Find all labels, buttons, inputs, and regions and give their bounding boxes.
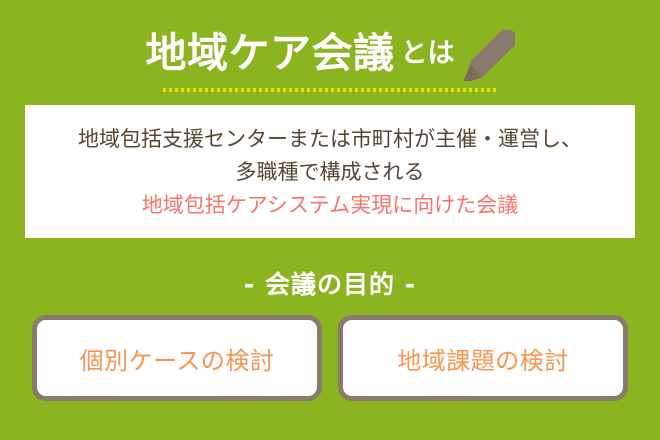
description-panel: 地域包括支援センターまたは市町村が主催・運営し、 多職種で構成される 地域包括ケ… [25,105,635,238]
purpose-heading: - 会議の目的 - [0,265,660,301]
description-line-1: 地域包括支援センターまたは市町村が主催・運営し、 [78,123,582,156]
pencil-icon [459,25,515,81]
purpose-card-individual-case[interactable]: 個別ケースの検討 [32,315,322,401]
description-line-3-accent: 地域包括ケアシステム実現に向けた会議 [142,189,519,222]
header: 地域ケア会議 とは [0,0,660,100]
page-title-suffix: とは [401,40,455,67]
purpose-card-list: 個別ケースの検討 地域課題の検討 [32,315,628,401]
purpose-card-label: 個別ケースの検討 [80,341,275,376]
purpose-card-community-issue[interactable]: 地域課題の検討 [338,315,628,401]
title-row: 地域ケア会議 とは [0,24,660,82]
dotted-underline [163,88,497,92]
page-title: 地域ケア会議 [146,33,395,74]
infographic-root: 地域ケア会議 とは 地域包括支援センターまたは市町村が主催・運営し、 多職種で構… [0,0,660,440]
description-line-2: 多職種で構成される [236,156,425,189]
purpose-card-label: 地域課題の検討 [397,341,569,376]
